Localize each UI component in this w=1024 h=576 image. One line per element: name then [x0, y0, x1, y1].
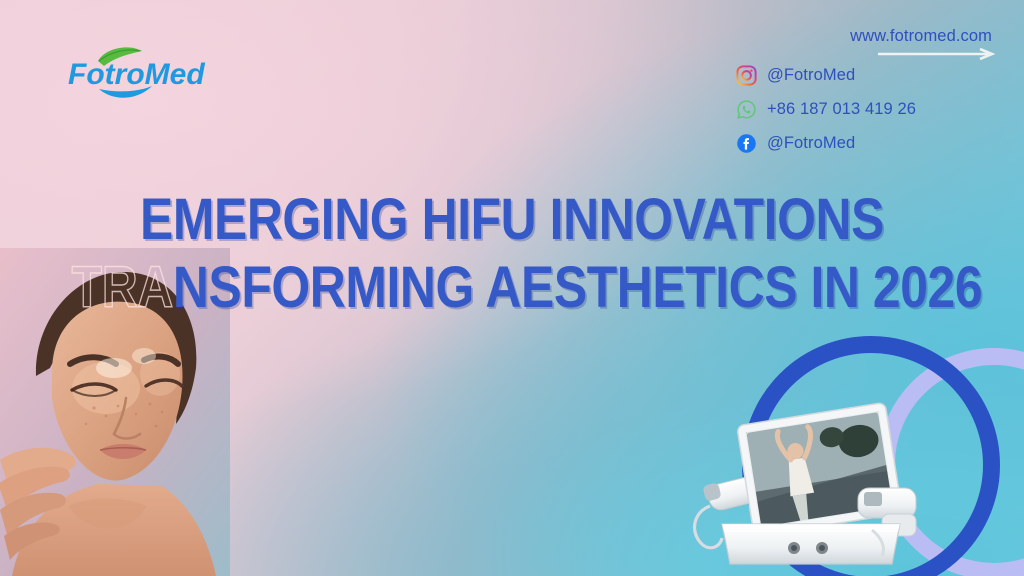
contact-row-instagram[interactable]: @FotroMed [736, 60, 1010, 90]
website-url[interactable]: www.fotromed.com [850, 26, 992, 46]
headline-line-2-rest: NSFORMING AESTHETICS IN 2026 [173, 255, 982, 320]
contact-row-facebook[interactable]: @FotroMed [736, 128, 1010, 158]
headline-line-2: TRANSFORMING AESTHETICS IN 2026 [72, 254, 953, 322]
whatsapp-icon[interactable] [736, 99, 757, 120]
instagram-icon[interactable] [736, 65, 757, 86]
contact-block: www.fotromed.com @ [720, 26, 1010, 158]
headline-ghost-letters: TRA [72, 255, 173, 320]
website-row[interactable]: www.fotromed.com [720, 26, 1010, 60]
instagram-handle[interactable]: @FotroMed [767, 66, 855, 85]
arrow-right-icon [876, 48, 1000, 60]
facebook-handle[interactable]: @FotroMed [767, 134, 855, 153]
logo-wordmark: FotroMed [68, 58, 205, 91]
headline-line-1: EMERGING HIFU INNOVATIONS [72, 186, 953, 254]
hifu-device-image [686, 396, 930, 576]
marketing-banner: FotroMed www.fotromed.com [0, 0, 1024, 576]
page-title: EMERGING HIFU INNOVATIONS TRANSFORMING A… [72, 186, 953, 322]
whatsapp-phone[interactable]: +86 187 013 419 26 [767, 100, 916, 119]
brand-logo[interactable]: FotroMed [66, 42, 216, 100]
contact-row-whatsapp[interactable]: +86 187 013 419 26 [736, 94, 1010, 124]
facebook-icon[interactable] [736, 133, 757, 154]
